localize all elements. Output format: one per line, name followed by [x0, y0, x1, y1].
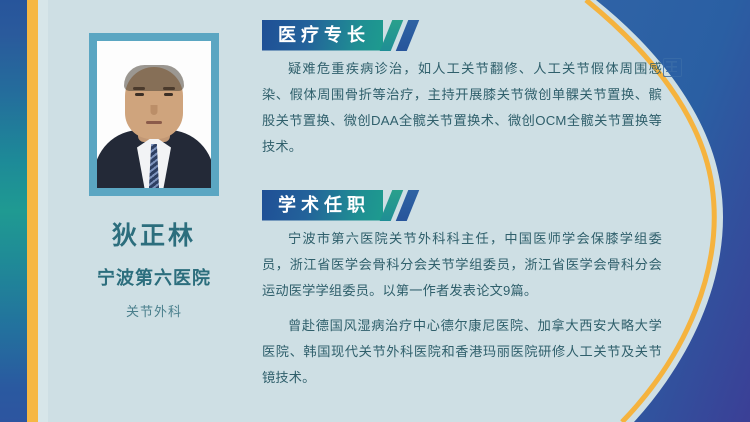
doctor-profile-card: 狄正林 宁波第六医院 关节外科 医疗专长 疑难危重疾病诊治，如人工关节翻修、人工…	[0, 0, 750, 422]
profile-content-column: 医疗专长 疑难危重疾病诊治，如人工关节翻修、人工关节假体周围感染、假体周围骨折等…	[262, 0, 682, 422]
section-header-academic-positions: 学术任职	[262, 187, 418, 223]
section-header-medical-specialty: 医疗专长	[262, 17, 418, 53]
badge-slash-decoration-2	[386, 190, 418, 221]
doctor-hospital: 宁波第六医院	[97, 264, 211, 290]
paragraph: 疑难危重疾病诊治，如人工关节翻修、人工关节假体周围感染、假体周围骨折等治疗，主持…	[262, 56, 662, 160]
square-grid-watermark-icon	[663, 58, 682, 77]
left-pale-stripe	[38, 0, 48, 422]
doctor-portrait-image	[97, 41, 211, 188]
badge-slash-decoration	[386, 20, 418, 51]
badge-medical-specialty-label: 医疗专长	[278, 20, 370, 51]
doctor-name: 狄正林	[112, 216, 196, 252]
doctor-photo-frame	[89, 33, 219, 196]
section-body-medical-specialty: 疑难危重疾病诊治，如人工关节翻修、人工关节假体周围感染、假体周围骨折等治疗，主持…	[262, 56, 662, 160]
paragraph: 宁波市第六医院关节外科科主任，中国医师学会保膝学组委员，浙江省医学会骨科分会关节…	[262, 226, 662, 304]
paragraph: 曾赴德国风湿病治疗中心德尔康尼医院、加拿大西安大略大学医院、韩国现代关节外科医院…	[262, 313, 662, 391]
badge-academic-positions: 学术任职	[262, 190, 383, 221]
badge-medical-specialty: 医疗专长	[262, 20, 383, 51]
left-yellow-stripe	[27, 0, 38, 422]
doctor-department: 关节外科	[126, 301, 182, 320]
section-body-academic-positions: 宁波市第六医院关节外科科主任，中国医师学会保膝学组委员，浙江省医学会骨科分会关节…	[262, 226, 662, 391]
left-gradient-stripe	[0, 0, 27, 422]
doctor-identity-column: 狄正林 宁波第六医院 关节外科	[48, 0, 260, 422]
badge-academic-positions-label: 学术任职	[278, 190, 370, 221]
